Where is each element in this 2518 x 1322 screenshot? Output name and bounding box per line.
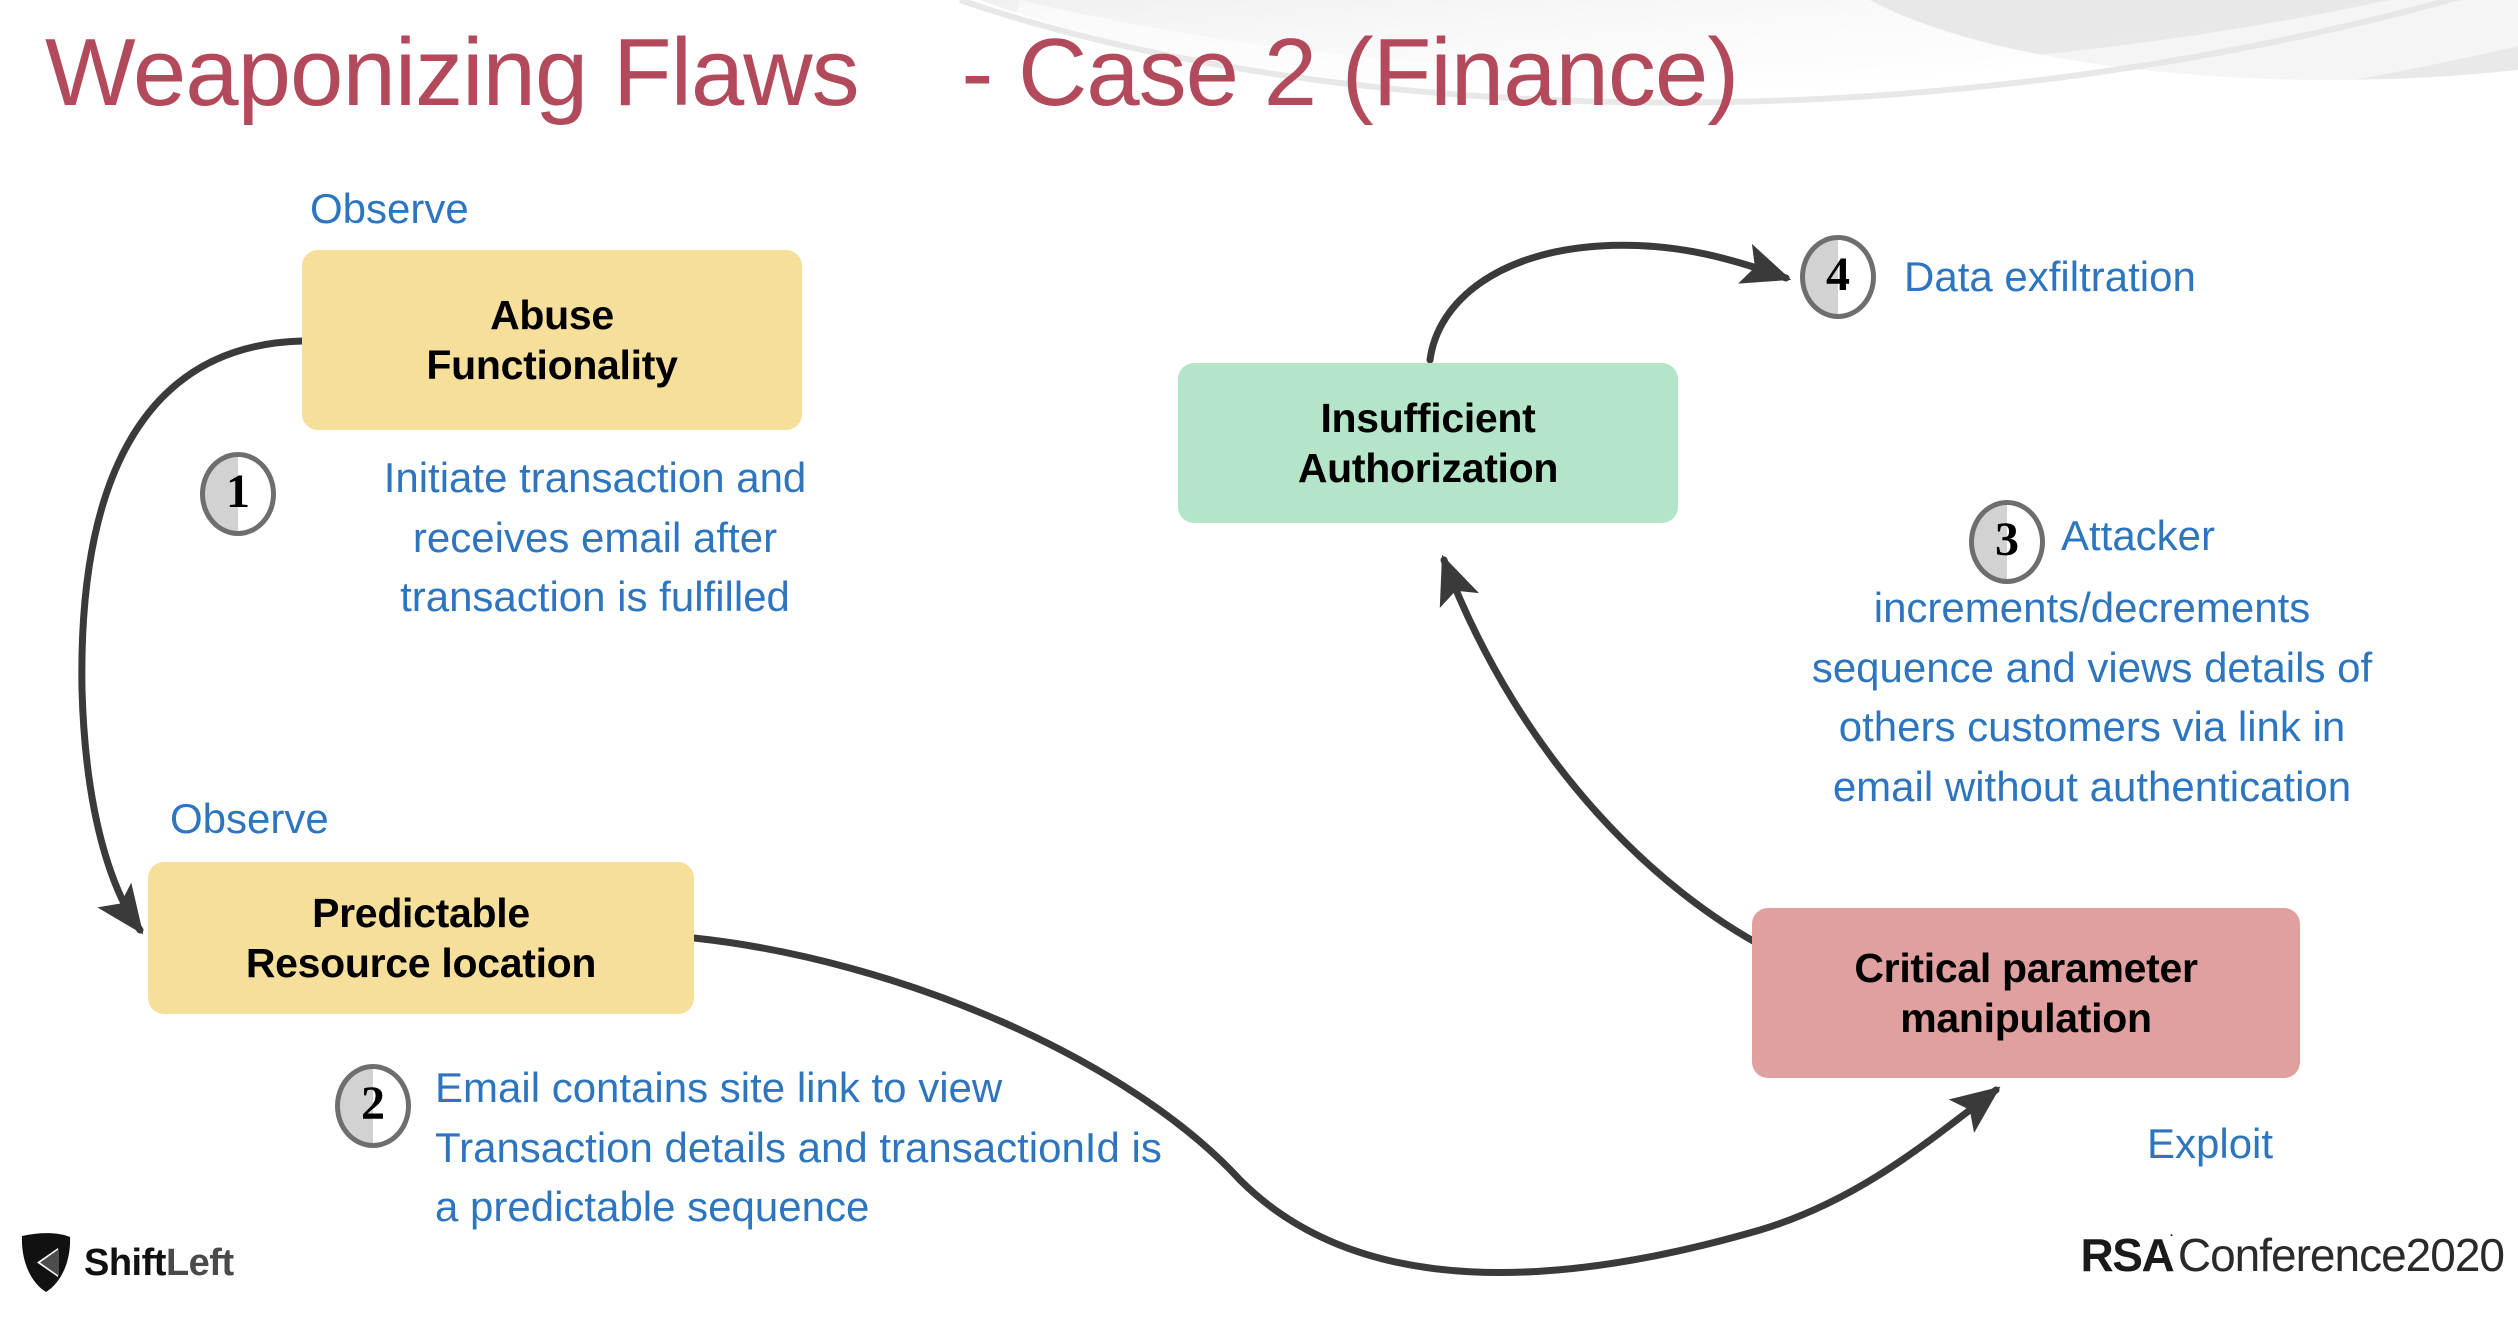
flow-box-abuse-functionality-label: Abuse Functionality xyxy=(426,290,677,390)
step-number-circle-1: 1 xyxy=(200,452,276,536)
flow-box-predictable-resource-location-label: Predictable Resource location xyxy=(246,888,596,988)
flow-box-insufficient-authorization-label: Insufficient Authorization xyxy=(1298,393,1558,493)
flow-box-critical-parameter-manipulation-label: Critical parameter manipulation xyxy=(1854,943,2197,1043)
step-1: 1 Initiate transaction and receives emai… xyxy=(200,448,900,627)
step-number-3: 3 xyxy=(1969,500,2045,584)
step-number-1: 1 xyxy=(200,452,276,536)
step-number-4: 4 xyxy=(1800,235,1876,319)
step-4: 4 Data exfiltration xyxy=(1800,235,2196,319)
step-1-description: Initiate transaction and receives email … xyxy=(290,448,900,627)
rsa-registered-dot-icon: ˙ xyxy=(2169,1232,2176,1255)
rsa-conference-year: Conference2020 xyxy=(2178,1228,2504,1282)
shiftleft-shield-icon xyxy=(18,1232,74,1294)
step-3: 3 Attacker increments/decrements sequenc… xyxy=(1722,500,2462,817)
step-number-2: 2 xyxy=(335,1064,411,1148)
phase-label-exploit: Exploit xyxy=(2147,1120,2273,1168)
rsa-mark: RSA xyxy=(2081,1228,2174,1282)
flow-box-insufficient-authorization[interactable]: Insufficient Authorization xyxy=(1178,363,1678,523)
flow-box-abuse-functionality[interactable]: Abuse Functionality xyxy=(302,250,802,430)
rsa-conference-logo: RSA˙Conference2020 xyxy=(2081,1228,2504,1282)
step-4-description: Data exfiltration xyxy=(1904,247,2196,307)
page-title: Weaponizing Flaws - Case 2 (Finance) xyxy=(45,18,1738,128)
shiftleft-wordmark-left: Left xyxy=(166,1242,234,1284)
phase-label-observe-top: Observe xyxy=(310,185,469,233)
step-2: 2 Email contains site link to view Trans… xyxy=(335,1058,1285,1237)
phase-label-observe-bottom: Observe xyxy=(170,795,329,843)
arrow-insufficient-to-exfiltration xyxy=(1430,245,1786,360)
step-number-circle-4: 4 xyxy=(1800,235,1876,319)
step-number-circle-2: 2 xyxy=(335,1064,411,1148)
presentation-slide: Weaponizing Flaws - Case 2 (Finance) Obs… xyxy=(0,0,2518,1322)
step-number-circle-3: 3 xyxy=(1969,500,2045,584)
shiftleft-logo: ShiftLeft xyxy=(18,1232,234,1294)
shiftleft-wordmark-shift: Shift xyxy=(84,1242,166,1284)
flow-box-critical-parameter-manipulation[interactable]: Critical parameter manipulation xyxy=(1752,908,2300,1078)
shiftleft-wordmark: ShiftLeft xyxy=(84,1242,234,1285)
step-2-description: Email contains site link to view Transac… xyxy=(435,1058,1285,1237)
flow-box-predictable-resource-location[interactable]: Predictable Resource location xyxy=(148,862,694,1014)
step-3-description: Attacker increments/decrements sequence … xyxy=(1812,512,2372,810)
